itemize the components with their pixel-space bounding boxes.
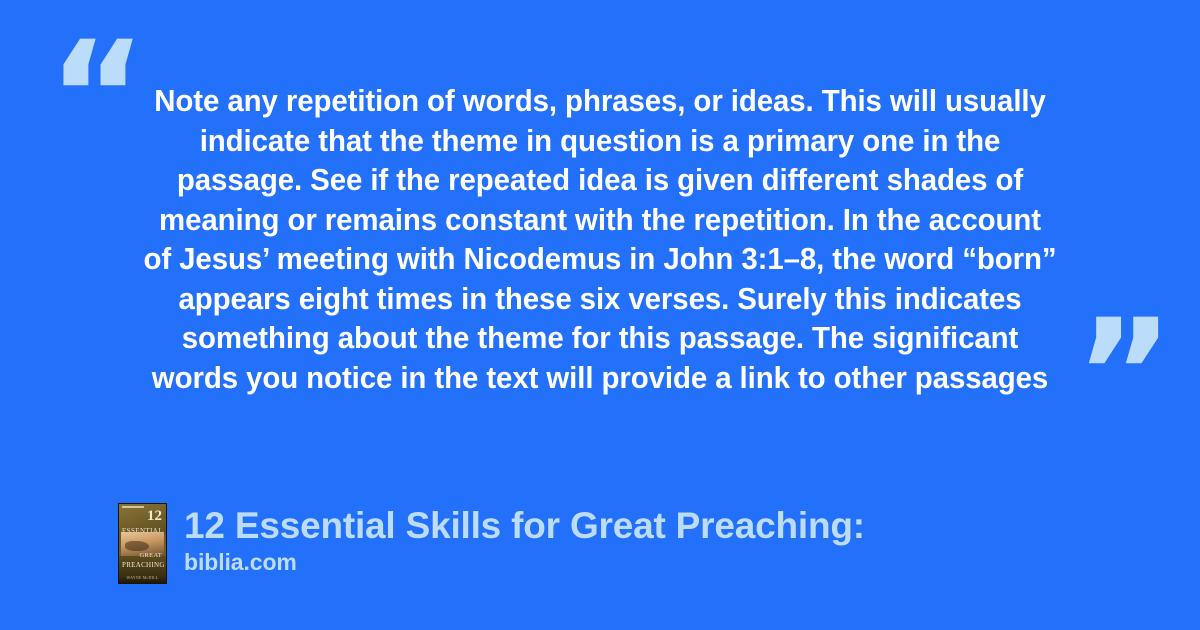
book-cover-publisher-mark xyxy=(122,506,144,508)
book-cover-number: 12 xyxy=(147,509,162,524)
quote-line: of Jesus’ meeting with Nicodemus in John… xyxy=(118,240,1083,280)
book-cover-author: WAYNE McDILL xyxy=(119,576,166,580)
book-title: 12 Essential Skills for Great Preaching: xyxy=(184,505,865,547)
quote-text: Note any repetition of words, phrases, o… xyxy=(118,82,1083,398)
book-cover-word-preaching: PREACHING xyxy=(122,562,165,569)
quote-line: something about the theme for this passa… xyxy=(118,319,1083,359)
quote-line: indicate that the theme in question is a… xyxy=(118,122,1083,162)
book-cover-word-great: GREAT xyxy=(140,553,162,560)
footer: 12 ESSENTIAL GREAT PREACHING WAYNE McDIL… xyxy=(118,503,865,584)
quote-line: passage. See if the repeated idea is giv… xyxy=(118,161,1083,201)
footer-text-block: 12 Essential Skills for Great Preaching:… xyxy=(184,503,865,577)
closing-quote-icon: ” xyxy=(1075,300,1174,450)
quote-line: words you notice in the text will provid… xyxy=(118,359,1083,399)
quote-line: meaning or remains constant with the rep… xyxy=(118,201,1083,241)
quote-line: appears eight times in these six verses.… xyxy=(118,280,1083,320)
quote-line: Note any repetition of words, phrases, o… xyxy=(118,82,1083,122)
book-cover-thumbnail: 12 ESSENTIAL GREAT PREACHING WAYNE McDIL… xyxy=(118,503,167,584)
site-url[interactable]: biblia.com xyxy=(184,547,865,577)
quote-card: “ Note any repetition of words, phrases,… xyxy=(0,0,1200,630)
